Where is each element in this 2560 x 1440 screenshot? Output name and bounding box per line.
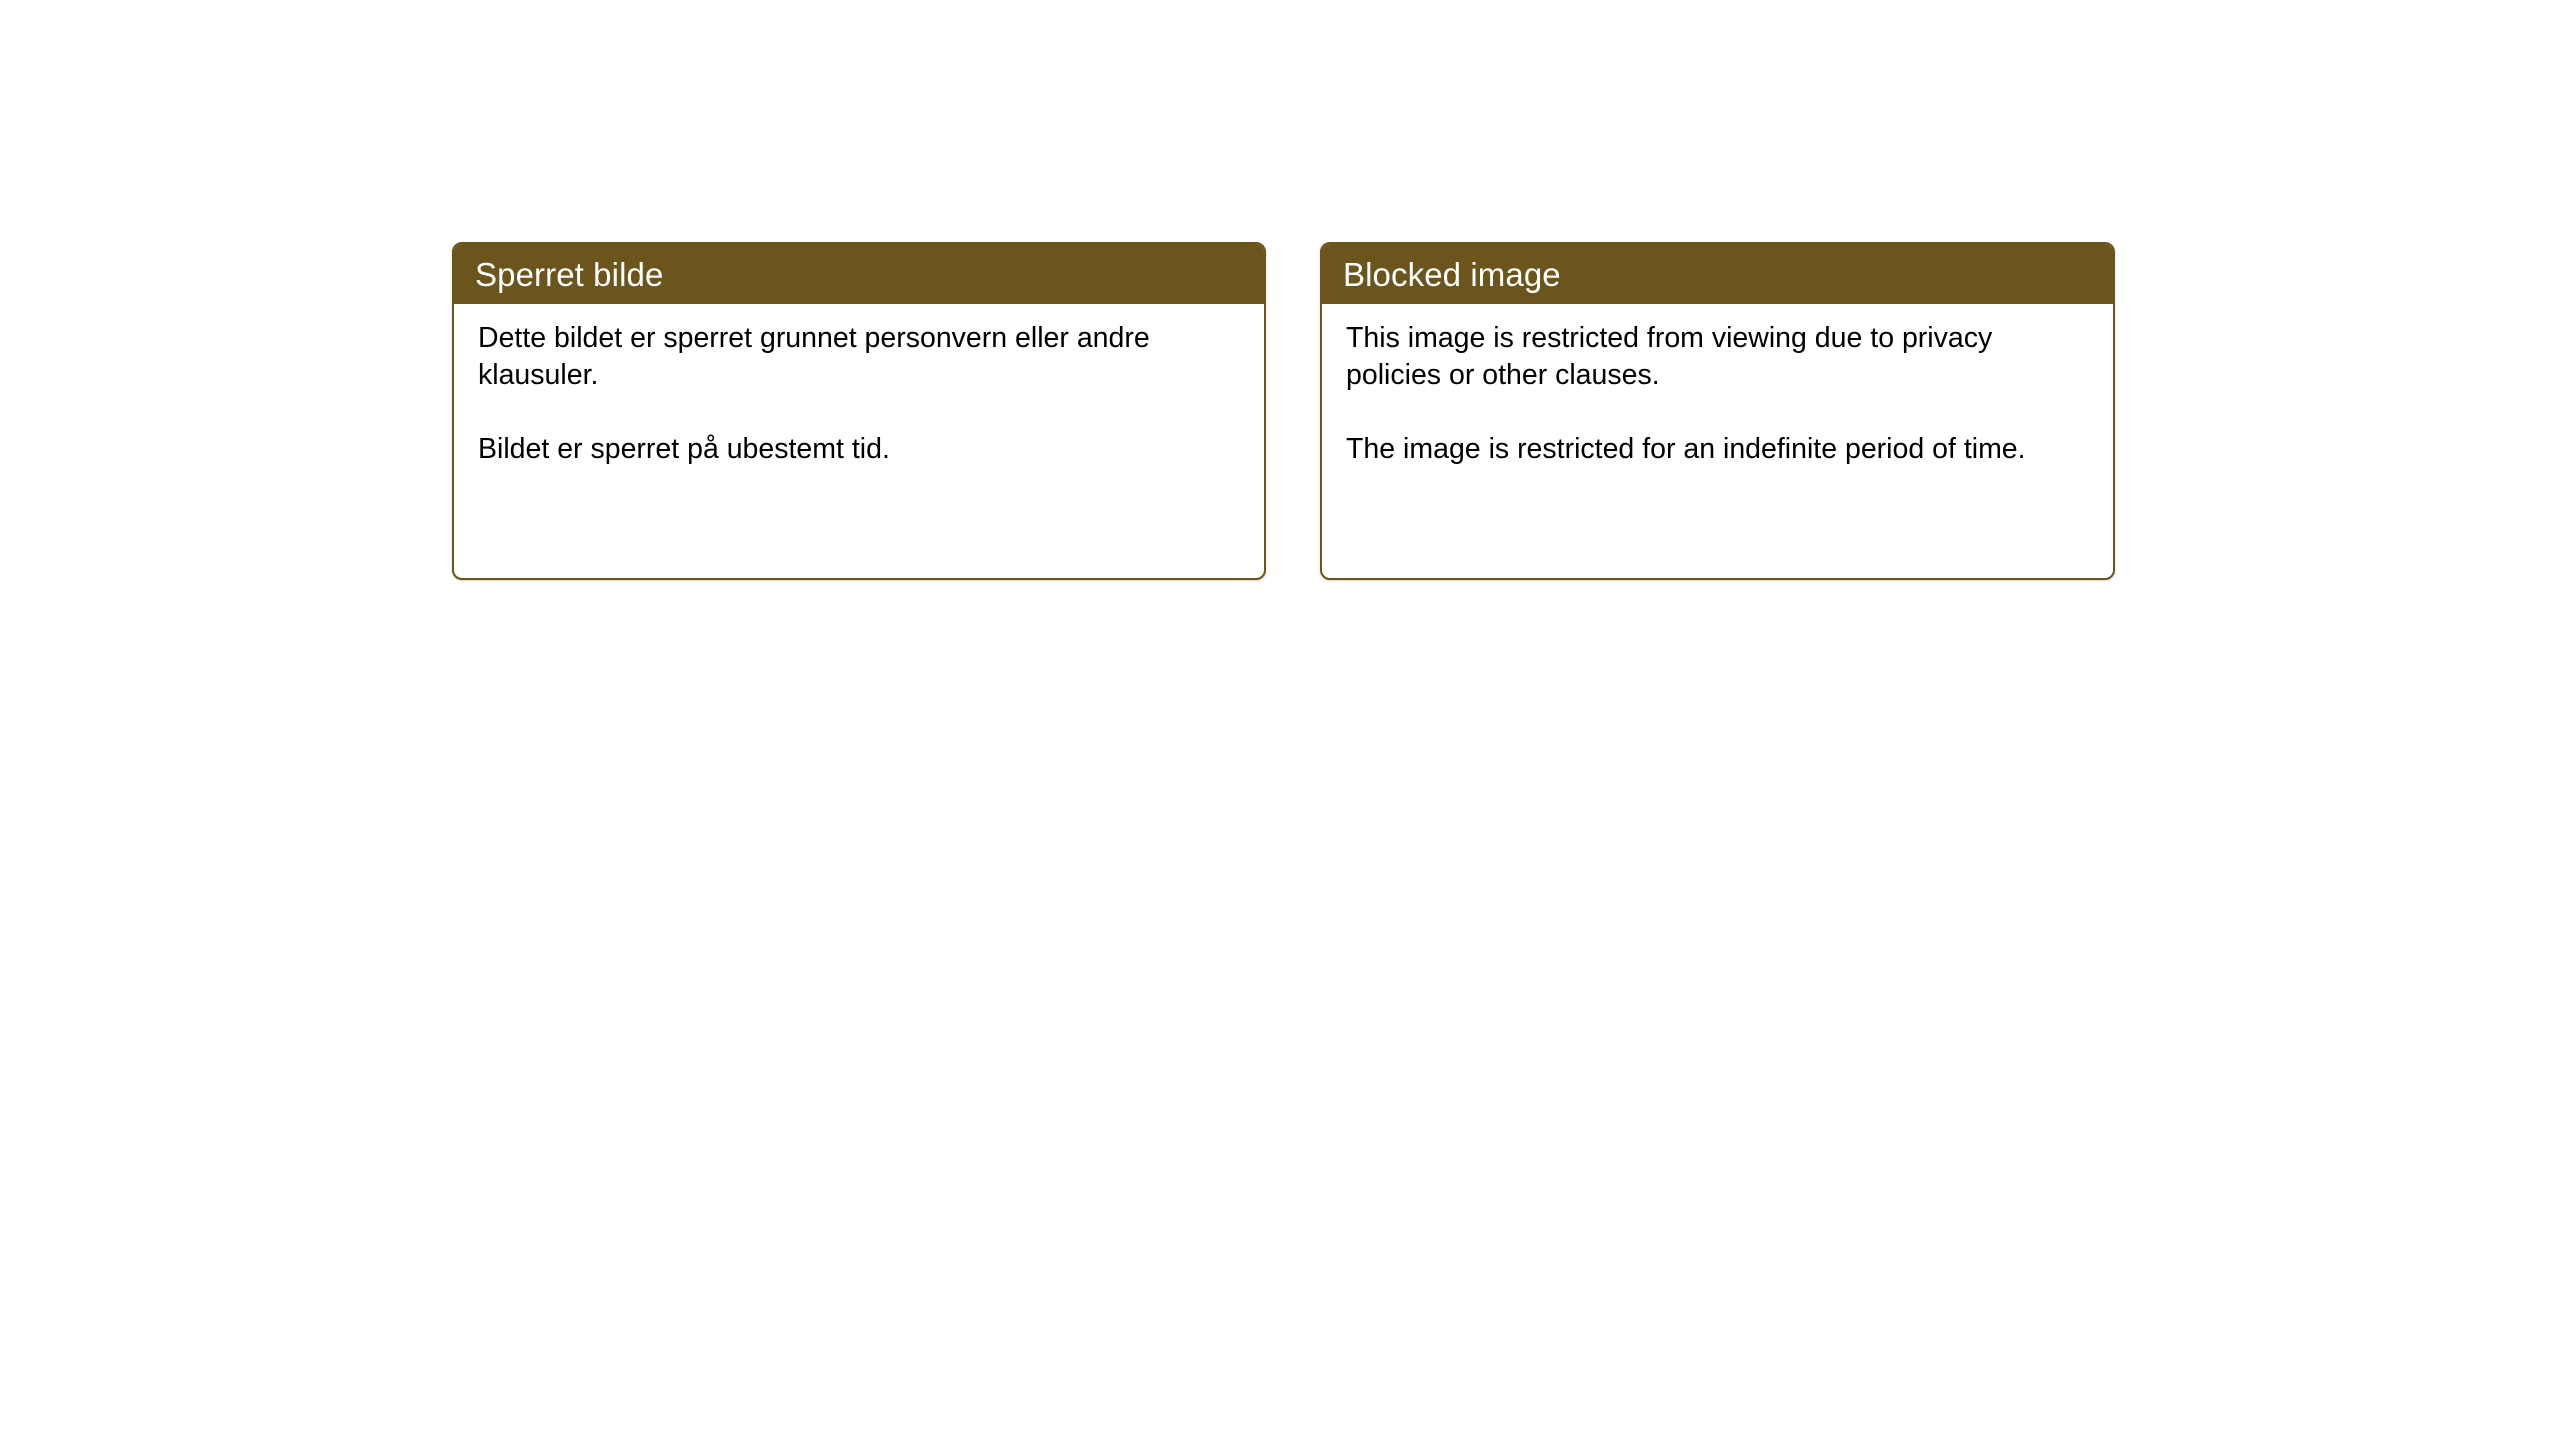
card-paragraph-secondary-english: The image is restricted for an indefinit…	[1346, 431, 2095, 468]
card-paragraph-primary-english: This image is restricted from viewing du…	[1346, 320, 2095, 395]
card-title-english: Blocked image	[1343, 258, 1561, 291]
card-paragraph-secondary-norwegian: Bildet er sperret på ubestemt tid.	[478, 431, 1246, 468]
card-header-english: Blocked image	[1322, 244, 2113, 304]
blocked-image-card-english: Blocked image This image is restricted f…	[1320, 242, 2115, 580]
card-header-norwegian: Sperret bilde	[454, 244, 1264, 304]
card-body-english: This image is restricted from viewing du…	[1322, 304, 2113, 468]
card-paragraph-primary-norwegian: Dette bildet er sperret grunnet personve…	[478, 320, 1246, 395]
card-title-norwegian: Sperret bilde	[475, 258, 663, 291]
card-body-norwegian: Dette bildet er sperret grunnet personve…	[454, 304, 1264, 468]
blocked-image-card-norwegian: Sperret bilde Dette bildet er sperret gr…	[452, 242, 1266, 580]
paragraph-spacer	[1346, 395, 2095, 431]
paragraph-spacer	[478, 395, 1246, 431]
page-root: Sperret bilde Dette bildet er sperret gr…	[0, 0, 2560, 1440]
